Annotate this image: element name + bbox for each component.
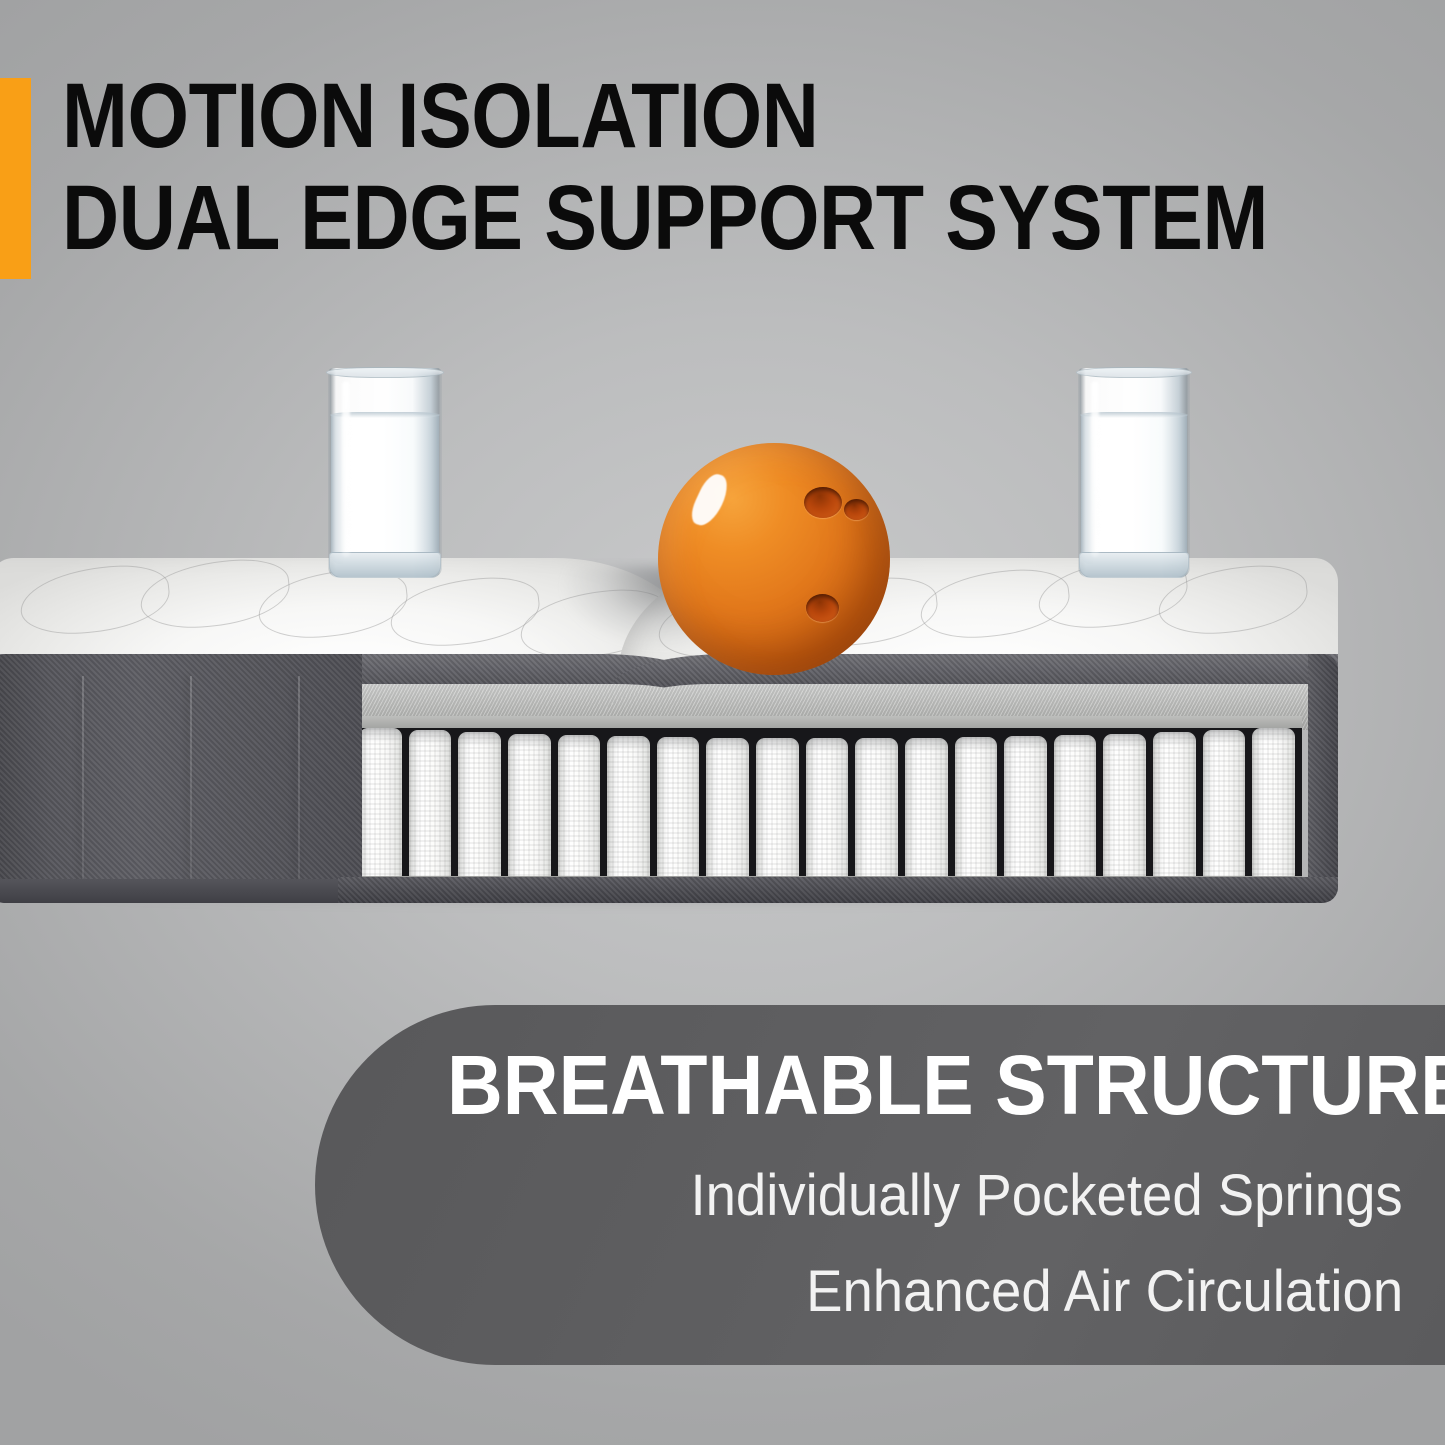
mattress-side-panel xyxy=(0,654,362,903)
banner-subtitle-1: Individually Pocketed Springs xyxy=(691,1167,1403,1225)
pocketed-spring xyxy=(756,738,799,880)
pocketed-spring xyxy=(1004,736,1047,880)
pocketed-spring xyxy=(508,734,551,880)
glass-highlight xyxy=(1091,381,1099,557)
water-glass-right xyxy=(1078,368,1190,578)
pocketed-spring xyxy=(458,732,501,880)
orange-accent-bar xyxy=(0,78,31,279)
pocketed-spring-unit xyxy=(352,728,1302,880)
quilt-stitch xyxy=(917,564,1073,643)
bowling-ball-highlight xyxy=(686,472,734,529)
pocketed-spring xyxy=(1252,728,1295,880)
banner-subtitle-2: Enhanced Air Circulation xyxy=(806,1263,1403,1321)
pocketed-spring xyxy=(558,735,601,880)
pocketed-spring xyxy=(955,737,998,880)
mattress-bottom-border xyxy=(338,877,1338,903)
pocketed-spring xyxy=(706,738,749,881)
glass-rim xyxy=(1076,367,1192,378)
bowling-ball-finger-hole xyxy=(804,487,842,518)
water-glass-left xyxy=(328,368,442,578)
headline-line-2: DUAL EDGE SUPPORT SYSTEM xyxy=(62,172,1268,264)
pocketed-spring xyxy=(855,738,898,880)
bowling-ball-finger-hole xyxy=(844,499,869,520)
glass-rim xyxy=(326,367,444,378)
side-panel-seam xyxy=(298,676,300,882)
pocketed-spring xyxy=(1203,730,1246,880)
breathable-structure-banner: BREATHABLE STRUCTURE Individually Pocket… xyxy=(315,1005,1445,1365)
pocketed-spring xyxy=(359,728,402,880)
side-panel-seam xyxy=(82,676,84,882)
pocketed-spring xyxy=(607,736,650,880)
pocketed-spring xyxy=(1153,732,1196,880)
banner-title: BREATHABLE STRUCTURE xyxy=(447,1043,1445,1127)
pocketed-spring xyxy=(806,738,849,880)
product-scene xyxy=(0,330,1445,940)
infographic-canvas: MOTION ISOLATION DUAL EDGE SUPPORT SYSTE… xyxy=(0,0,1445,1445)
pocketed-spring xyxy=(905,738,948,881)
pocketed-spring xyxy=(1054,735,1097,880)
pocketed-spring xyxy=(657,737,700,880)
side-panel-seam xyxy=(190,676,192,882)
side-panel-bottom-edge xyxy=(0,879,362,903)
pocketed-spring xyxy=(1103,734,1146,880)
bowling-ball-thumb-hole xyxy=(806,594,839,622)
headline-line-1: MOTION ISOLATION xyxy=(62,70,818,162)
quilt-stitch xyxy=(387,572,543,651)
glass-highlight xyxy=(342,381,350,557)
pocketed-spring xyxy=(409,730,452,880)
bowling-ball xyxy=(658,443,890,675)
mattress-right-border xyxy=(1308,654,1338,903)
headline-block: MOTION ISOLATION DUAL EDGE SUPPORT SYSTE… xyxy=(0,60,1400,290)
